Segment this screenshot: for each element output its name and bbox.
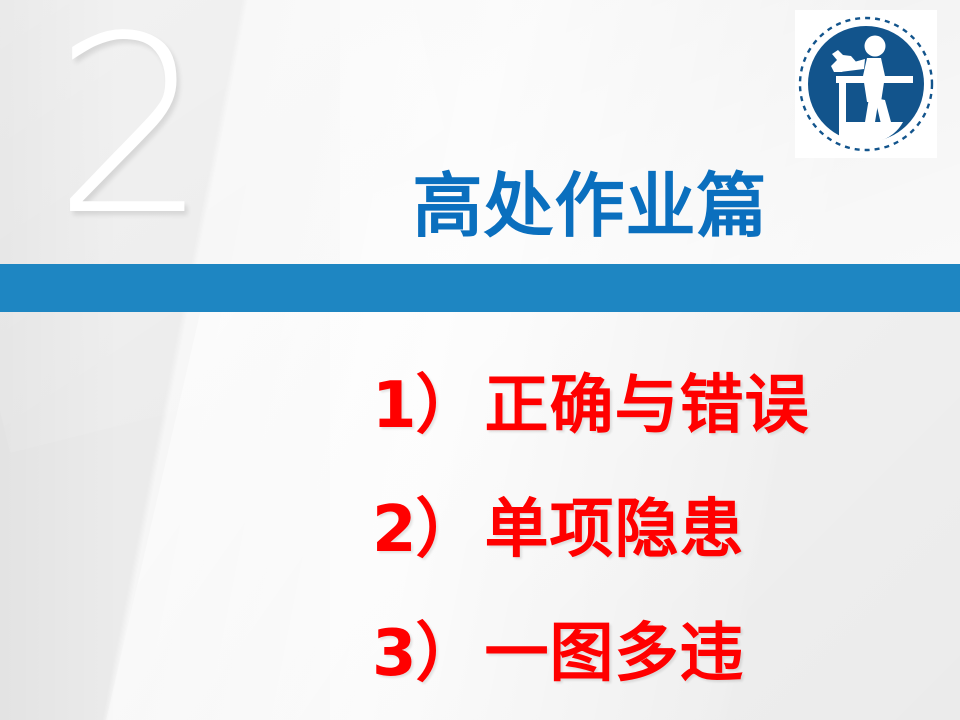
agenda-label-3: 一图多违 — [485, 592, 745, 716]
slide-canvas: 2 高处作业篇 — [0, 0, 960, 720]
agenda-label-1: 正确与错误 — [485, 344, 810, 468]
agenda-marker-1: 1） — [372, 344, 479, 468]
chapter-number: 2 — [40, 2, 220, 252]
agenda-item-3: 3） 一图多违 — [372, 592, 932, 716]
agenda-label-2: 单项隐患 — [485, 468, 745, 592]
chapter-title: 高处作业篇 — [330, 161, 850, 251]
agenda-marker-3: 3） — [372, 592, 479, 716]
agenda-list: 1） 正确与错误 2） 单项隐患 3） 一图多违 — [372, 344, 932, 716]
agenda-item-2: 2） 单项隐患 — [372, 468, 932, 592]
agenda-item-1: 1） 正确与错误 — [372, 344, 932, 468]
blue-divider-band — [0, 264, 960, 312]
work-at-height-icon — [795, 10, 937, 158]
agenda-marker-2: 2） — [372, 468, 479, 592]
